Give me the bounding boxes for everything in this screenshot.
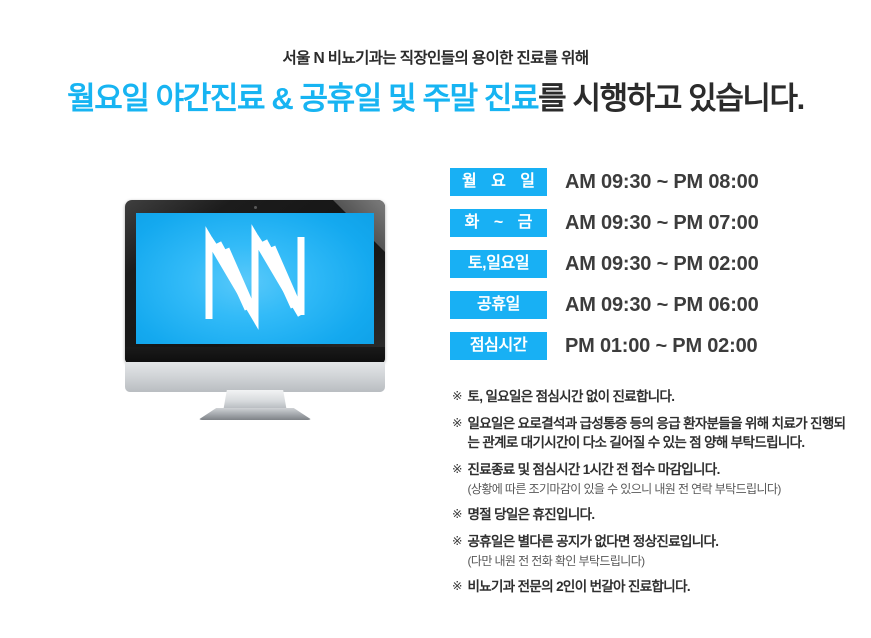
schedule-row: 공휴일 AM 09:30 ~ PM 06:00 xyxy=(450,291,759,319)
note-text: 공휴일은 별다른 공지가 없다면 정상진료입니다. xyxy=(467,532,852,552)
schedule-time: AM 09:30 ~ PM 07:00 xyxy=(565,212,759,235)
note-text: 진료종료 및 점심시간 1시간 전 접수 마감입니다. xyxy=(467,460,852,480)
monitor-illustration xyxy=(125,200,385,400)
notes-list: ※ 토, 일요일은 점심시간 없이 진료합니다. ※ 일요일은 요로결석과 급성… xyxy=(452,387,852,604)
reference-mark-icon: ※ xyxy=(452,577,462,596)
note-text: 비뇨기과 전문의 2인이 번갈아 진료합니다. xyxy=(467,577,852,597)
note-body: 비뇨기과 전문의 2인이 번갈아 진료합니다. xyxy=(467,577,852,597)
webcam-icon xyxy=(254,206,257,209)
note-body: 일요일은 요로결석과 급성통증 등의 응급 환자분들을 위해 치료가 진행되는 … xyxy=(467,414,852,453)
monitor-bezel xyxy=(125,200,385,365)
note-body: 명절 당일은 휴진입니다. xyxy=(467,505,852,525)
note-item: ※ 명절 당일은 휴진입니다. xyxy=(452,505,852,525)
page-title-rest: 를 시행하고 있습니다. xyxy=(538,81,804,116)
header-subtitle: 서울 N 비뇨기과는 직장인들의 용이한 진료를 위해 xyxy=(0,50,871,69)
schedule-day-badge: 토,일요일 xyxy=(450,250,547,278)
schedule-day-badge: 월 요 일 xyxy=(450,168,547,196)
note-body: 토, 일요일은 점심시간 없이 진료합니다. xyxy=(467,387,852,407)
n-zigzag-logo-icon xyxy=(136,213,374,344)
note-item: ※ 일요일은 요로결석과 급성통증 등의 응급 환자분들을 위해 치료가 진행되… xyxy=(452,414,852,453)
reference-mark-icon: ※ xyxy=(452,532,462,551)
schedule-time: AM 09:30 ~ PM 08:00 xyxy=(565,171,759,194)
schedule-day-badge: 점심시간 xyxy=(450,332,547,360)
note-item: ※ 비뇨기과 전문의 2인이 번갈아 진료합니다. xyxy=(452,577,852,597)
schedule-row: 월 요 일 AM 09:30 ~ PM 08:00 xyxy=(450,168,759,196)
monitor-screen xyxy=(136,213,374,344)
note-item: ※ 토, 일요일은 점심시간 없이 진료합니다. xyxy=(452,387,852,407)
clinic-hours-banner: 서울 N 비뇨기과는 직장인들의 용이한 진료를 위해 월요일 야간진료 & 공… xyxy=(0,0,871,638)
reference-mark-icon: ※ xyxy=(452,387,462,406)
schedule-day-badge: 공휴일 xyxy=(450,291,547,319)
page-title: 월요일 야간진료 & 공휴일 및 주말 진료를 시행하고 있습니다. xyxy=(0,81,871,117)
schedule-day-badge: 화 ~ 금 xyxy=(450,209,547,237)
schedule-time: AM 09:30 ~ PM 02:00 xyxy=(565,253,759,276)
note-parenthetical: (다만 내원 전 전화 확인 부탁드립니다) xyxy=(467,552,852,570)
reference-mark-icon: ※ xyxy=(452,414,462,433)
monitor-base xyxy=(125,362,385,392)
header: 서울 N 비뇨기과는 직장인들의 용이한 진료를 위해 월요일 야간진료 & 공… xyxy=(0,50,871,116)
schedule-row: 점심시간 PM 01:00 ~ PM 02:00 xyxy=(450,332,759,360)
note-item: ※ 공휴일은 별다른 공지가 없다면 정상진료입니다. (다만 내원 전 전화 … xyxy=(452,532,852,571)
note-parenthetical: (상황에 따른 조기마감이 있을 수 있으니 내원 전 연락 부탁드립니다) xyxy=(467,480,852,498)
schedule-row: 화 ~ 금 AM 09:30 ~ PM 07:00 xyxy=(450,209,759,237)
schedule-time: AM 09:30 ~ PM 06:00 xyxy=(565,294,759,317)
note-item: ※ 진료종료 및 점심시간 1시간 전 접수 마감입니다. (상황에 따른 조기… xyxy=(452,460,852,499)
reference-mark-icon: ※ xyxy=(452,505,462,524)
schedule-table: 월 요 일 AM 09:30 ~ PM 08:00 화 ~ 금 AM 09:30… xyxy=(450,168,759,373)
note-text: 명절 당일은 휴진입니다. xyxy=(467,505,852,525)
reference-mark-icon: ※ xyxy=(452,460,462,479)
note-body: 공휴일은 별다른 공지가 없다면 정상진료입니다. (다만 내원 전 전화 확인… xyxy=(467,532,852,571)
note-text: 일요일은 요로결석과 급성통증 등의 응급 환자분들을 위해 치료가 진행되는 … xyxy=(467,414,852,453)
page-title-highlight: 월요일 야간진료 & 공휴일 및 주말 진료 xyxy=(67,81,538,116)
schedule-row: 토,일요일 AM 09:30 ~ PM 02:00 xyxy=(450,250,759,278)
monitor-foot xyxy=(198,408,312,420)
note-text: 토, 일요일은 점심시간 없이 진료합니다. xyxy=(467,387,852,407)
note-body: 진료종료 및 점심시간 1시간 전 접수 마감입니다. (상황에 따른 조기마감… xyxy=(467,460,852,499)
schedule-time: PM 01:00 ~ PM 02:00 xyxy=(565,335,757,358)
